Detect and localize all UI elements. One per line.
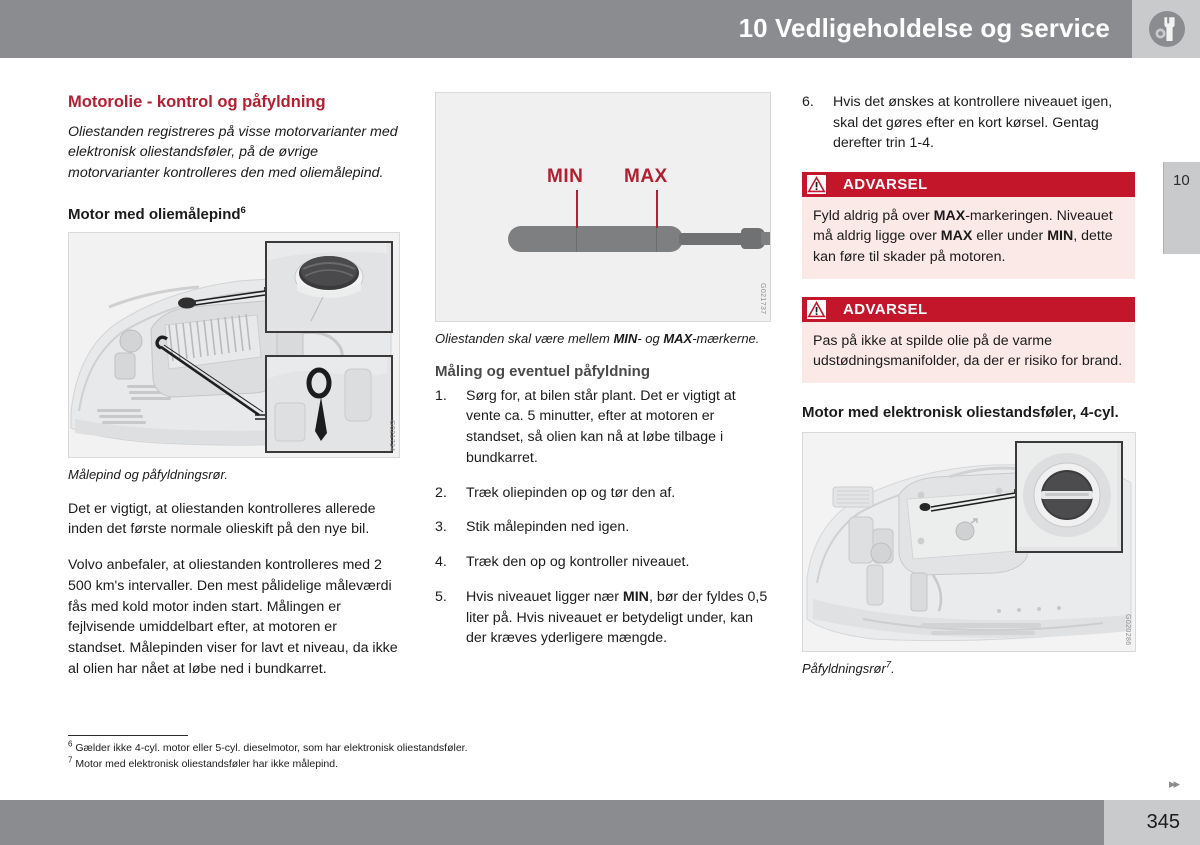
section-intro: Oliestanden registreres på visse motorva… xyxy=(68,122,398,183)
warning-title: ADVARSEL xyxy=(843,176,928,193)
step-item-4: 4. Træk den op og kontroller niveauet. xyxy=(435,552,768,573)
chapter-tab-10[interactable]: 10 xyxy=(1163,162,1200,254)
figure-id-code: G020286 xyxy=(1124,614,1131,646)
paragraph-first-oilchange: Det er vigtigt, at oliestanden kontrolle… xyxy=(68,499,398,540)
footnote-marker: 6 xyxy=(68,740,72,749)
wrench-icon xyxy=(1146,8,1188,50)
header-icon-block xyxy=(1132,0,1200,58)
step-item-1: 1. Sørg for, at bilen står plant. Det er… xyxy=(435,386,768,469)
chapter-tab-label: 10 xyxy=(1173,172,1190,189)
next-page-arrows[interactable]: ▸▸ xyxy=(1169,776,1178,792)
step-number: 1. xyxy=(435,386,459,407)
subheading-dipstick-engine: Motor med oliemålepind6 xyxy=(68,205,398,225)
inset-dipstick-handle xyxy=(265,355,393,453)
step-item-3: 3. Stik målepinden ned igen. xyxy=(435,517,768,538)
step-number: 6. xyxy=(802,92,826,113)
warning-text: Pas på ikke at spilde olie på de varme u… xyxy=(813,331,1124,371)
figure-id-code: G021737 xyxy=(759,283,766,315)
caption-part-a: Oliestanden skal være mellem xyxy=(435,331,613,346)
subheading-electronic-sensor-engine: Motor med elektronisk oliestandsføler, 4… xyxy=(802,403,1135,423)
footer-bar xyxy=(0,800,1104,845)
dipstick-neck xyxy=(679,233,747,245)
steps-list: 1. Sørg for, at bilen står plant. Det er… xyxy=(435,386,768,649)
step-item-5: 5. Hvis niveauet ligger nær MIN, bør der… xyxy=(435,587,768,649)
caption-min: MIN xyxy=(613,331,637,346)
figure-caption-right: Påfyldningsrør7. xyxy=(802,660,1135,678)
footnote-marker: 6 xyxy=(241,205,246,216)
figure-engine-bay-dipstick: G021734 xyxy=(68,232,400,458)
warn-bold-max-2: MAX xyxy=(941,228,973,244)
footnote-text: Motor med elektronisk oliestandsføler ha… xyxy=(75,758,338,770)
warning-triangle-icon xyxy=(807,300,826,319)
caption-part-c: -mærkerne. xyxy=(692,331,759,346)
step-text: Sørg for, at bilen står plant. Det er vi… xyxy=(466,388,736,466)
min-label: MIN xyxy=(547,166,583,188)
min-leader-line xyxy=(576,190,578,228)
warning-header: ADVARSEL xyxy=(802,172,1135,197)
footnote-7: 7 Motor med elektronisk oliestandsføler … xyxy=(68,757,688,773)
step-text: Stik målepinden ned igen. xyxy=(466,519,629,535)
page-number: 345 xyxy=(1147,811,1180,834)
warning-title: ADVARSEL xyxy=(843,301,928,318)
page-title: 10 Vedligeholdelse og service xyxy=(739,13,1110,44)
step-number: 2. xyxy=(435,483,459,504)
step-text: Træk oliepinden op og tør den af. xyxy=(466,485,675,501)
paragraph-interval-recommendation: Volvo anbefaler, at oliestanden kontroll… xyxy=(68,555,398,679)
warning-box-hot-manifold: ADVARSEL Pas på ikke at spilde olie på d… xyxy=(802,297,1135,383)
manual-page: 10 Vedligeholdelse og service 10 Motorol… xyxy=(0,0,1200,845)
caption-period: . xyxy=(891,661,895,676)
caption-part-b: - og xyxy=(637,331,663,346)
step-text-a: Hvis niveauet ligger nær xyxy=(466,589,623,605)
subheading-measuring: Måling og eventuel påfyldning xyxy=(435,362,768,382)
step-text: Hvis det ønskes at kontrollere niveauet … xyxy=(833,94,1112,151)
step-number: 4. xyxy=(435,552,459,573)
subheading-text: Motor med oliemålepind xyxy=(68,206,241,223)
header-bar: 10 Vedligeholdelse og service xyxy=(0,0,1132,58)
right-column: 6. Hvis det ønskes at kontrollere niveau… xyxy=(802,92,1135,693)
footnote-6: 6 Gælder ikke 4-cyl. motor eller 5-cyl. … xyxy=(68,741,688,757)
step-text: Træk den op og kontroller niveauet. xyxy=(466,554,689,570)
max-label: MAX xyxy=(624,166,668,188)
section-title: Motorolie - kontrol og påfyldning xyxy=(68,92,398,113)
footnote-marker: 7 xyxy=(68,755,72,764)
step-item-6: 6. Hvis det ønskes at kontrollere niveau… xyxy=(802,92,1135,154)
step-number: 5. xyxy=(435,587,459,608)
figure-id-code: G021734 xyxy=(388,420,395,452)
warning-body: Fyld aldrig på over MAX-markeringen. Niv… xyxy=(802,197,1135,278)
step-number: 3. xyxy=(435,517,459,538)
warning-body: Pas på ikke at spilde olie på de varme u… xyxy=(802,322,1135,383)
warn-part-d: eller under xyxy=(972,228,1047,244)
step-text-bold: MIN xyxy=(623,589,649,605)
figure-caption-left: Målepind og påfyldningsrør. xyxy=(68,466,398,484)
dipstick-tip-end xyxy=(761,232,771,245)
footnotes-block: 6 Gælder ikke 4-cyl. motor eller 5-cyl. … xyxy=(68,735,688,773)
max-leader-line xyxy=(656,190,658,228)
warn-part-a: Fyld aldrig på over xyxy=(813,208,934,224)
step-item-2: 2. Træk oliepinden op og tør den af. xyxy=(435,483,768,504)
warning-box-max-marking: ADVARSEL Fyld aldrig på over MAX-markeri… xyxy=(802,172,1135,278)
footnote-text: Gælder ikke 4-cyl. motor eller 5-cyl. di… xyxy=(75,742,467,754)
warning-triangle-icon xyxy=(807,175,826,194)
dipstick-min-mark xyxy=(576,226,577,252)
warning-text: Fyld aldrig på over MAX-markeringen. Niv… xyxy=(813,206,1124,266)
footer-page-block: 345 xyxy=(1104,800,1200,845)
figure-dipstick-markings: MIN MAX G021737 xyxy=(435,92,771,322)
warning-header: ADVARSEL xyxy=(802,297,1135,322)
caption-text: Påfyldningsrør xyxy=(802,661,886,676)
step-text: Hvis niveauet ligger nær MIN, bør der fy… xyxy=(466,589,767,646)
caption-max: MAX xyxy=(663,331,692,346)
left-column: Motorolie - kontrol og påfyldning Oliest… xyxy=(68,92,398,695)
inset-oil-filler-cap xyxy=(1015,441,1123,553)
warn-bold-max-1: MAX xyxy=(934,208,966,224)
figure-engine-4cyl-filler: G020286 xyxy=(802,432,1136,652)
middle-column: MIN MAX G021737 Oliestanden skal være me… xyxy=(435,92,768,663)
inset-oil-cap xyxy=(265,241,393,333)
footnote-rule xyxy=(68,735,188,736)
steps-list-continued: 6. Hvis det ønskes at kontrollere niveau… xyxy=(802,92,1135,154)
dipstick-max-mark xyxy=(656,226,657,252)
warn-bold-min: MIN xyxy=(1047,228,1073,244)
figure-caption-middle: Oliestanden skal være mellem MIN- og MAX… xyxy=(435,330,768,348)
